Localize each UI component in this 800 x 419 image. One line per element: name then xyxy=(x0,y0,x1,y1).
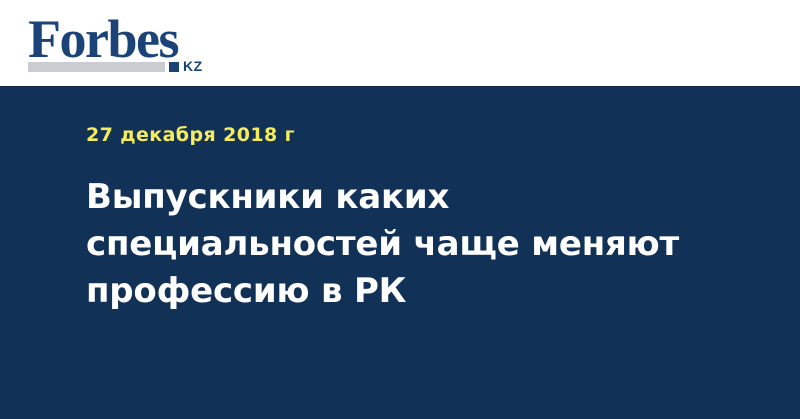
article-publish-date: 27 декабря 2018 г xyxy=(86,124,295,146)
article-hero-panel: 27 декабря 2018 г Выпускники каких специ… xyxy=(0,86,800,419)
headline-line-2: специальностей чаще меняют xyxy=(86,221,686,268)
logo-underline-bar xyxy=(28,62,165,72)
forbes-kz-logo[interactable]: Forbes KZ xyxy=(28,12,228,76)
headline-line-1: Выпускники каких xyxy=(86,174,686,221)
article-cover-page: Forbes KZ 27 декабря 2018 г Выпускники к… xyxy=(0,0,800,419)
site-header: Forbes KZ xyxy=(0,0,800,86)
headline-line-3: профессию в РК xyxy=(86,268,686,315)
logo-kz-label: KZ xyxy=(183,59,203,73)
forbes-wordmark: Forbes xyxy=(28,12,178,66)
article-headline: Выпускники каких специальностей чаще мен… xyxy=(86,174,686,315)
logo-square-icon xyxy=(169,62,179,72)
